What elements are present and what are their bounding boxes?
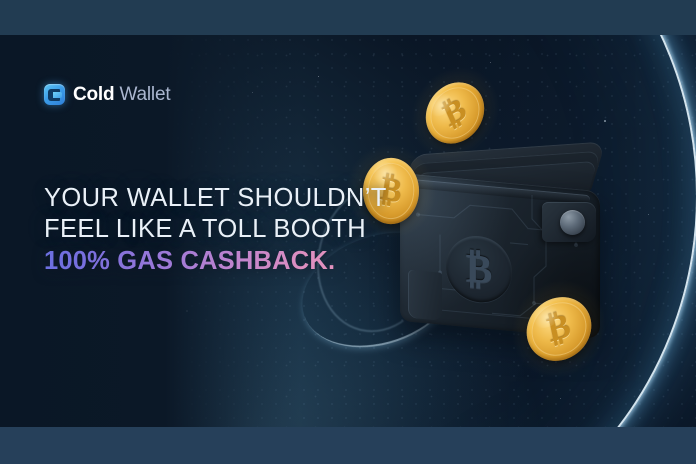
top-letterbox-band xyxy=(0,0,696,35)
headline-accent-line: 100% GAS CASHBACK. xyxy=(44,245,387,278)
brand-name: Cold Wallet xyxy=(73,85,170,104)
bottom-letterbox-band xyxy=(0,427,696,464)
headline-line-1: YOUR WALLET SHOULDN’T xyxy=(44,183,387,214)
brand-logo[interactable]: Cold Wallet xyxy=(44,84,170,105)
brand-name-primary: Cold xyxy=(73,84,114,105)
cold-wallet-promo-banner: ₿ ₿ ₿ ₿ Cold Wallet xyxy=(0,0,696,464)
bitcoin-coin-top: ₿ xyxy=(417,71,494,155)
brand-name-secondary: Wallet xyxy=(120,84,171,105)
wallet-bitcoin-emblem-symbol: ₿ xyxy=(466,248,493,290)
headline-block: YOUR WALLET SHOULDN’T FEEL LIKE A TOLL B… xyxy=(44,183,387,278)
cold-wallet-logo-icon xyxy=(44,84,65,105)
wallet-snap-button xyxy=(560,210,585,235)
wallet-corner-tab xyxy=(408,270,442,321)
headline-line-2: FEEL LIKE A TOLL BOOTH xyxy=(44,214,387,245)
bitcoin-coin-bottom: ₿ xyxy=(521,289,597,369)
